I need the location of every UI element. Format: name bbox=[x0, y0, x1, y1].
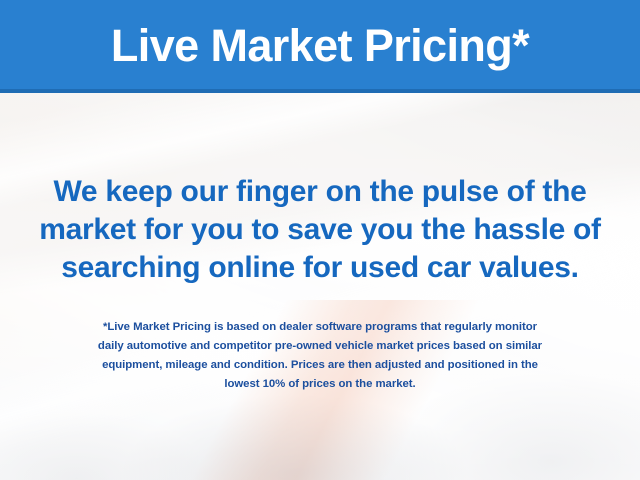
header-banner: Live Market Pricing* bbox=[0, 0, 640, 93]
headline-line-2: market for you to save you the hassle of bbox=[26, 211, 614, 249]
headline-line-3: searching online for used car values. bbox=[26, 249, 614, 287]
page-title: Live Market Pricing* bbox=[111, 23, 529, 71]
live-market-pricing-card: Live Market Pricing* We keep our finger … bbox=[0, 0, 640, 480]
disclaimer-line-3: equipment, mileage and condition. Prices… bbox=[22, 356, 618, 375]
headline-block: We keep our finger on the pulse of the m… bbox=[0, 173, 640, 287]
headline-line-1: We keep our finger on the pulse of the bbox=[26, 173, 614, 211]
disclaimer-line-4: lowest 10% of prices on the market. bbox=[22, 375, 618, 394]
disclaimer-line-2: daily automotive and competitor pre-owne… bbox=[22, 337, 618, 356]
disclaimer-line-1: *Live Market Pricing is based on dealer … bbox=[22, 318, 618, 337]
banner-bottom-rule bbox=[0, 89, 640, 93]
disclaimer-block: *Live Market Pricing is based on dealer … bbox=[0, 318, 640, 394]
